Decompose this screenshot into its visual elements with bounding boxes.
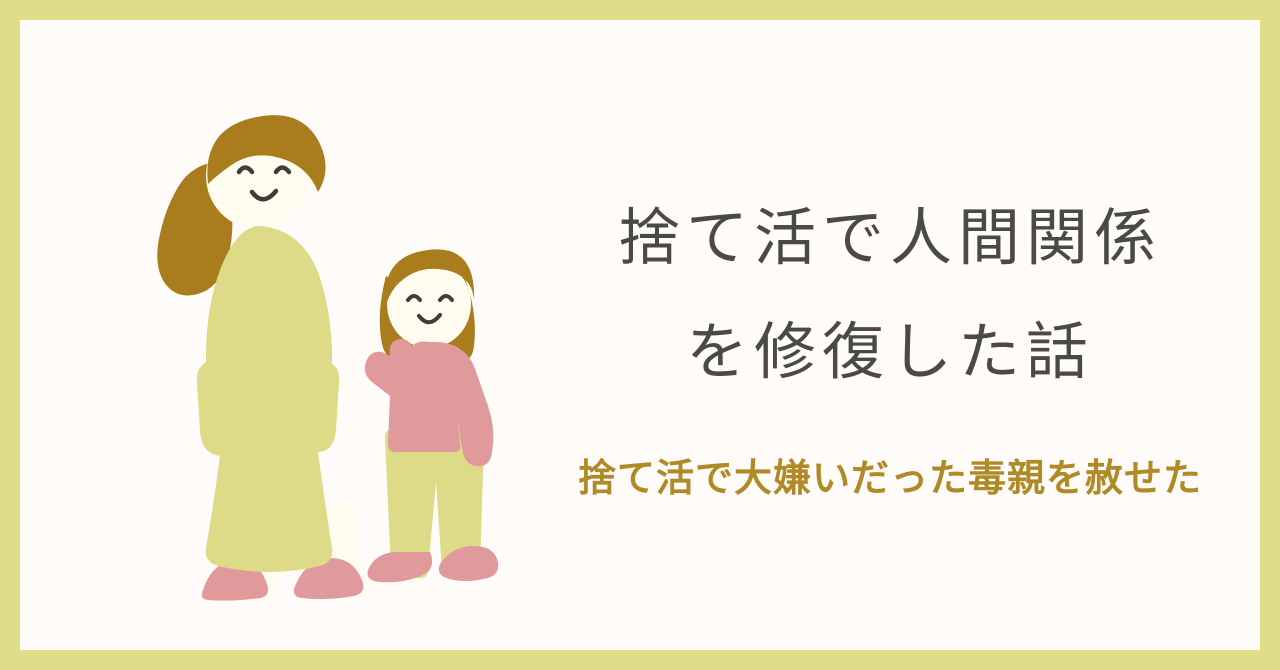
headline-text-block: 捨て活で人間関係 を修復した話 捨て活で大嫌いだった毒親を赦せた [520, 170, 1280, 550]
inner-panel: 捨て活で人間関係 を修復した話 捨て活で大嫌いだった毒親を赦せた [20, 20, 1260, 650]
image-canvas: 捨て活で人間関係 を修復した話 捨て活で大嫌いだった毒親を赦せた [0, 0, 1280, 670]
mother-figure [157, 115, 363, 601]
mother-dress [197, 226, 339, 572]
title-line-1: 捨て活で人間関係 [520, 208, 1260, 270]
title-line-2: を修復した話 [520, 322, 1260, 384]
mother-and-child-illustration [140, 100, 560, 620]
child-top [365, 339, 493, 466]
child-figure [365, 249, 498, 582]
subtitle: 捨て活で大嫌いだった毒親を赦せた [520, 460, 1260, 498]
